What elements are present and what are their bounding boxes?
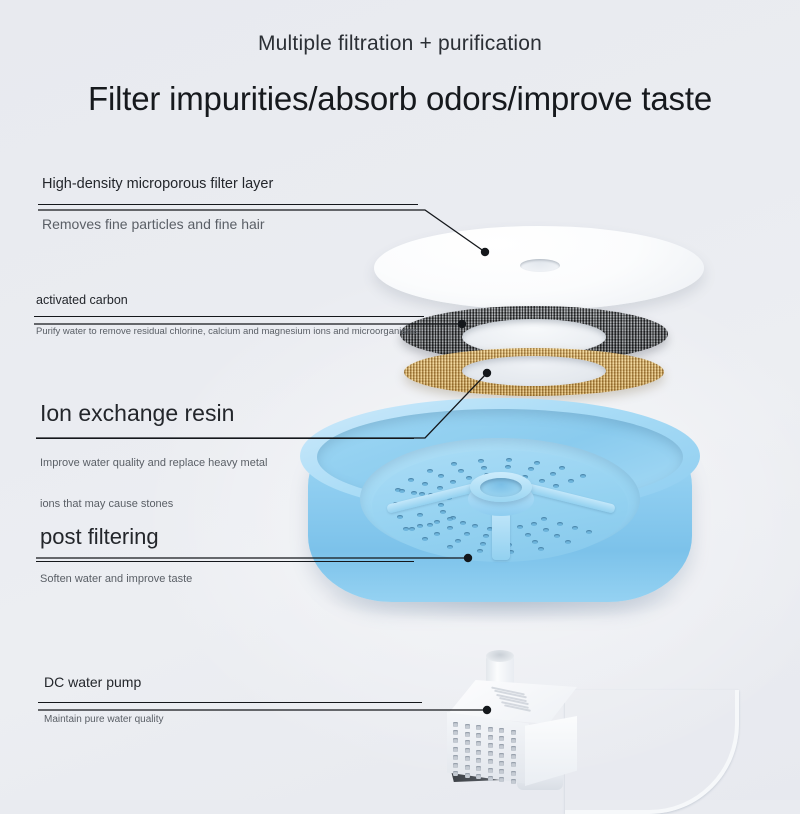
label-rule-activated-carbon xyxy=(34,316,424,317)
leader-dot-activated-carbon xyxy=(458,320,466,328)
leader-dot-filter-disc xyxy=(481,248,489,256)
label-head-high-density-filter: High-density microporous filter layer xyxy=(42,176,418,192)
label-high-density-filter: High-density microporous filter layer Re… xyxy=(42,176,418,232)
label-activated-carbon: activated carbon Purify water to remove … xyxy=(36,293,424,337)
leader-dot-ion-exchange-resin xyxy=(483,369,491,377)
label-desc-ion-exchange-resin-line2: ions that may cause stones xyxy=(40,491,414,517)
label-desc-post-filtering: Soften water and improve taste xyxy=(40,573,414,585)
label-desc-dc-water-pump: Maintain pure water quality xyxy=(44,714,422,725)
leader-dot-post-filtering xyxy=(464,554,472,562)
label-rule-high-density-filter xyxy=(38,204,418,205)
leader-dot-dc-water-pump xyxy=(483,706,491,714)
label-ion-exchange-resin: Ion exchange resin Improve water quality… xyxy=(40,400,414,517)
infographic-canvas: Multiple filtration + purification Filte… xyxy=(0,0,800,800)
label-desc-activated-carbon: Purify water to remove residual chlorine… xyxy=(36,326,424,337)
label-desc-ion-exchange-resin-line1: Improve water quality and replace heavy … xyxy=(40,450,414,476)
label-rule-dc-water-pump xyxy=(38,702,422,703)
label-head-post-filtering: post filtering xyxy=(40,524,414,550)
label-dc-water-pump: DC water pump Maintain pure water qualit… xyxy=(44,674,422,725)
label-head-dc-water-pump: DC water pump xyxy=(44,674,422,690)
label-head-ion-exchange-resin: Ion exchange resin xyxy=(40,400,414,427)
label-post-filtering: post filtering Soften water and improve … xyxy=(40,524,414,585)
label-rule-ion-exchange-resin xyxy=(36,438,414,439)
label-head-activated-carbon: activated carbon xyxy=(36,293,424,307)
label-rule-post-filtering xyxy=(36,561,414,562)
label-desc-high-density-filter: Removes fine particles and fine hair xyxy=(42,216,418,232)
